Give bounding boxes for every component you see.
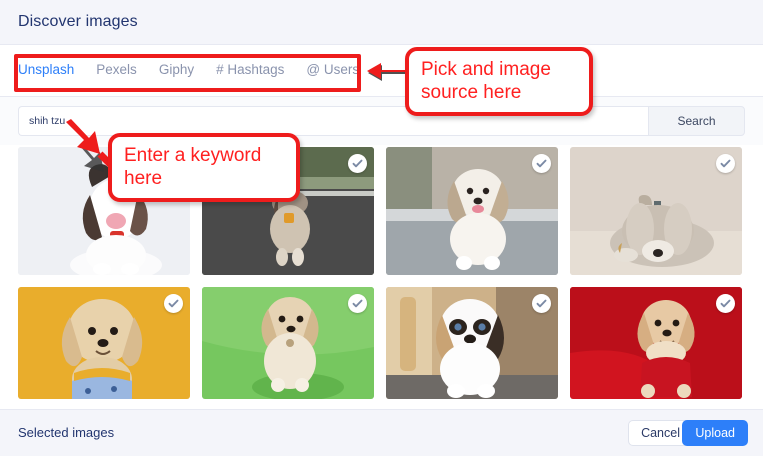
search-button[interactable]: Search [648,106,745,136]
image-tile[interactable] [570,287,742,399]
selected-images-label: Selected images [18,425,114,440]
check-circle-icon[interactable] [716,294,735,313]
discover-images-modal: Discover images Unsplash Pexels Giphy # … [0,0,763,456]
check-circle-icon[interactable] [164,294,183,313]
check-circle-icon[interactable] [532,294,551,313]
tab-unsplash[interactable]: Unsplash [18,58,74,81]
tab-pexels[interactable]: Pexels [96,58,137,81]
source-tabbar: Unsplash Pexels Giphy # Hashtags @ Users [0,45,763,97]
modal-header: Discover images [0,0,763,45]
annotation-callout-source-line2: source here [421,81,577,104]
tab-users[interactable]: @ Users [306,58,359,81]
tab-hashtags[interactable]: # Hashtags [216,58,284,81]
annotation-callout-source-line1: Pick and image [421,58,577,81]
source-tabs: Unsplash Pexels Giphy # Hashtags @ Users [18,58,359,81]
check-circle-icon[interactable] [348,154,367,173]
tab-giphy[interactable]: Giphy [159,58,194,81]
image-tile[interactable] [386,287,558,399]
annotation-callout-keyword-line1: Enter a keyword [124,144,284,167]
annotation-callout-keyword-line2: here [124,167,284,190]
image-tile[interactable] [570,147,742,275]
check-circle-icon[interactable] [348,294,367,313]
image-tile[interactable] [386,147,558,275]
image-tile[interactable] [18,287,190,399]
image-tile[interactable] [202,287,374,399]
modal-footer: Selected images Cancel Upload [0,409,763,456]
page-title: Discover images [18,13,138,31]
annotation-callout-keyword: Enter a keyword here [108,133,300,202]
upload-button[interactable]: Upload [682,420,748,446]
annotation-callout-source: Pick and image source here [405,47,593,116]
check-circle-icon[interactable] [716,154,735,173]
check-circle-icon[interactable] [532,154,551,173]
